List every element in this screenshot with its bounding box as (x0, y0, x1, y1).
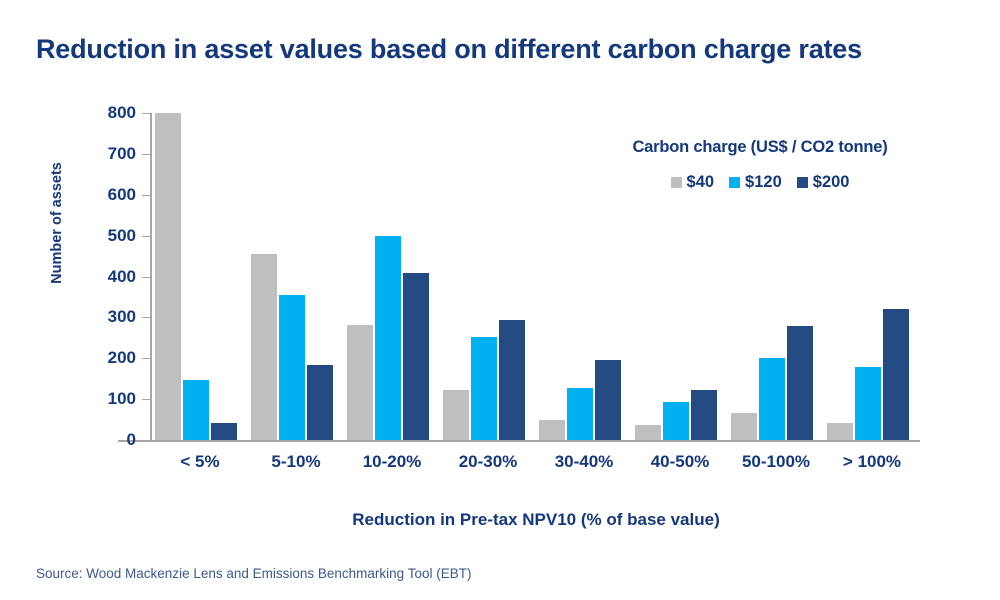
x-tick-label: 10-20% (344, 452, 440, 472)
y-tick-mark (142, 317, 150, 318)
bar[interactable] (183, 380, 209, 440)
bar[interactable] (759, 358, 785, 440)
bar[interactable] (595, 360, 621, 440)
bar-group (728, 113, 824, 440)
bar[interactable] (827, 423, 853, 440)
y-tick-mark (142, 358, 150, 359)
y-axis-title: Number of assets (49, 148, 65, 298)
y-tick-label: 700 (60, 144, 136, 164)
x-tick-label: 40-50% (632, 452, 728, 472)
bar[interactable] (731, 413, 757, 440)
bar[interactable] (635, 425, 661, 440)
x-axis-title: Reduction in Pre-tax NPV10 (% of base va… (152, 510, 920, 530)
bar[interactable] (211, 423, 237, 440)
y-tick-label: 600 (60, 185, 136, 205)
y-tick-label: 100 (60, 389, 136, 409)
x-axis-line (118, 440, 920, 442)
x-tick-label: 50-100% (728, 452, 824, 472)
bar[interactable] (567, 388, 593, 440)
chart-page: Reduction in asset values based on diffe… (0, 0, 1000, 600)
bar[interactable] (347, 325, 373, 440)
bar[interactable] (471, 337, 497, 440)
bar-group (440, 113, 536, 440)
plot-wrapper: 8007006005004003002001000 Number of asse… (0, 0, 1000, 600)
bar-group (632, 113, 728, 440)
bar-group (536, 113, 632, 440)
bar[interactable] (883, 309, 909, 440)
y-tick-mark (142, 236, 150, 237)
bar[interactable] (279, 295, 305, 440)
y-tick-label: 300 (60, 307, 136, 327)
bar-group (248, 113, 344, 440)
bar[interactable] (663, 402, 689, 440)
x-tick-label: 5-10% (248, 452, 344, 472)
bar-group (824, 113, 920, 440)
x-tick-label: < 5% (152, 452, 248, 472)
x-tick-label: 20-30% (440, 452, 536, 472)
x-tick-label: 30-40% (536, 452, 632, 472)
y-tick-label: 800 (60, 103, 136, 123)
y-tick-mark (142, 440, 150, 441)
y-tick-label: 0 (60, 430, 136, 450)
bar-group (344, 113, 440, 440)
bar[interactable] (855, 367, 881, 440)
y-tick-label: 200 (60, 348, 136, 368)
bar[interactable] (403, 273, 429, 440)
plot-area (152, 113, 920, 440)
bar[interactable] (787, 326, 813, 440)
bar[interactable] (691, 390, 717, 440)
y-tick-mark (142, 195, 150, 196)
y-tick-label: 400 (60, 267, 136, 287)
y-tick-mark (142, 277, 150, 278)
bar[interactable] (375, 236, 401, 440)
y-tick-mark (142, 399, 150, 400)
source-note: Source: Wood Mackenzie Lens and Emission… (36, 566, 471, 581)
y-tick-mark (142, 154, 150, 155)
x-tick-label: > 100% (824, 452, 920, 472)
bar-group (152, 113, 248, 440)
bar[interactable] (499, 320, 525, 440)
bar[interactable] (251, 254, 277, 440)
bar[interactable] (443, 390, 469, 440)
bar[interactable] (307, 365, 333, 440)
y-tick-mark (142, 113, 150, 114)
y-tick-label: 500 (60, 226, 136, 246)
bar[interactable] (155, 113, 181, 440)
bar[interactable] (539, 420, 565, 440)
